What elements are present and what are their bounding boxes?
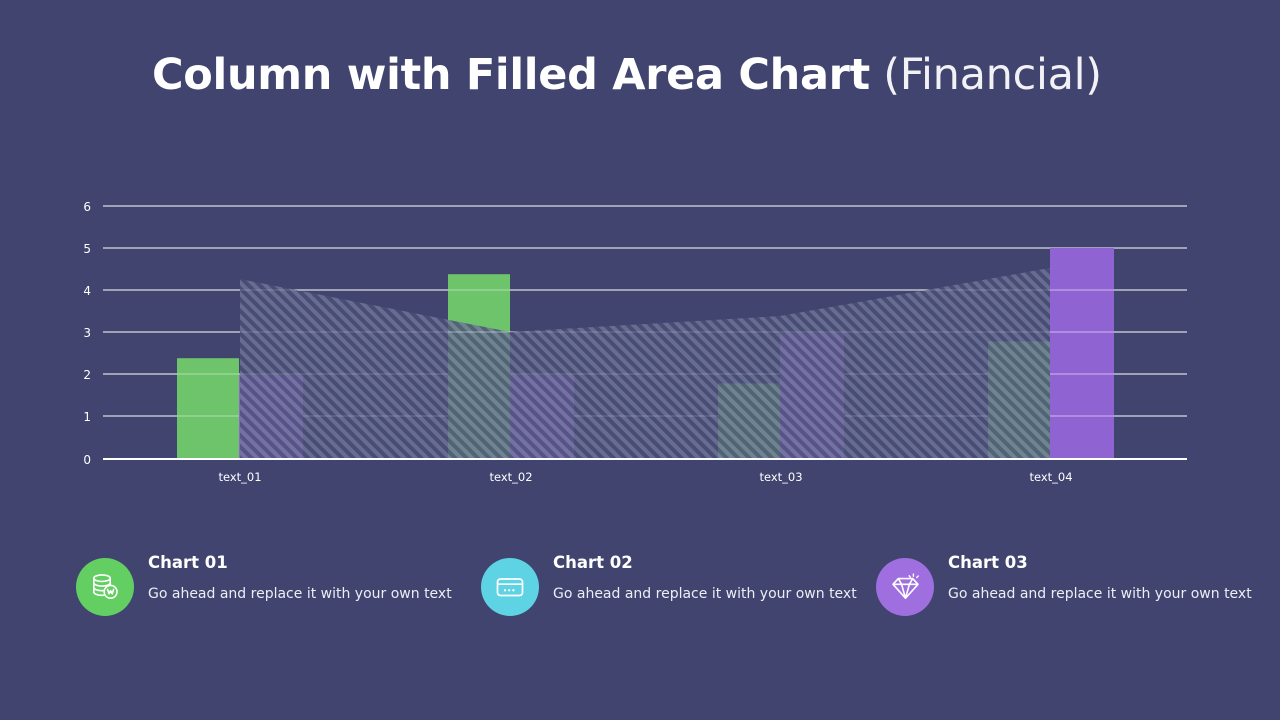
- legend-title: Chart 03: [948, 552, 1278, 574]
- y-tick-label: 4: [83, 284, 91, 298]
- legend-item-chart-01[interactable]: Chart 01 Go ahead and replace it with yo…: [76, 546, 476, 626]
- legend-title: Chart 02: [553, 552, 883, 574]
- y-tick-label: 2: [83, 368, 91, 382]
- legend-badge-chart-01: [76, 558, 134, 616]
- x-tick-label: text_02: [489, 470, 532, 484]
- legend-text-chart-02: Chart 02 Go ahead and replace it with yo…: [553, 552, 883, 604]
- legend-description: Go ahead and replace it with your own te…: [553, 584, 883, 604]
- y-axis-tick-labels: 6 5 4 3 2 1 0: [83, 200, 91, 467]
- bar-green-text_01[interactable]: [177, 358, 239, 459]
- legend-description: Go ahead and replace it with your own te…: [148, 584, 478, 604]
- y-tick-label: 0: [83, 453, 91, 467]
- bar-purple-text_04[interactable]: [1050, 248, 1114, 459]
- x-tick-label: text_04: [1029, 470, 1072, 484]
- series-chart-02-filled-area: [240, 268, 1050, 459]
- legend-badge-chart-02: [481, 558, 539, 616]
- y-tick-label: 6: [83, 200, 91, 214]
- legend-badge-chart-03: [876, 558, 934, 616]
- legend-text-chart-01: Chart 01 Go ahead and replace it with yo…: [148, 552, 478, 604]
- legend-item-chart-03[interactable]: Chart 03 Go ahead and replace it with yo…: [876, 546, 1276, 626]
- column-with-filled-area-chart: 6 5 4 3 2 1 0: [0, 0, 1280, 500]
- legend: Chart 01 Go ahead and replace it with yo…: [0, 546, 1280, 636]
- diamond-icon: [889, 571, 922, 604]
- credit-card-icon: [494, 571, 526, 603]
- y-tick-label: 1: [83, 410, 91, 424]
- legend-title: Chart 01: [148, 552, 478, 574]
- coins-stack-icon: [88, 570, 122, 604]
- y-tick-label: 3: [83, 326, 91, 340]
- series-chart-03-bar-over-area: [1050, 248, 1114, 459]
- legend-text-chart-03: Chart 03 Go ahead and replace it with yo…: [948, 552, 1278, 604]
- legend-item-chart-02[interactable]: Chart 02 Go ahead and replace it with yo…: [481, 546, 881, 626]
- x-axis-tick-labels: text_01 text_02 text_03 text_04: [218, 470, 1072, 484]
- y-tick-label: 5: [83, 242, 91, 256]
- chart-container: 6 5 4 3 2 1 0: [0, 0, 1280, 500]
- x-tick-label: text_01: [218, 470, 261, 484]
- x-tick-label: text_03: [759, 470, 802, 484]
- legend-description: Go ahead and replace it with your own te…: [948, 584, 1278, 604]
